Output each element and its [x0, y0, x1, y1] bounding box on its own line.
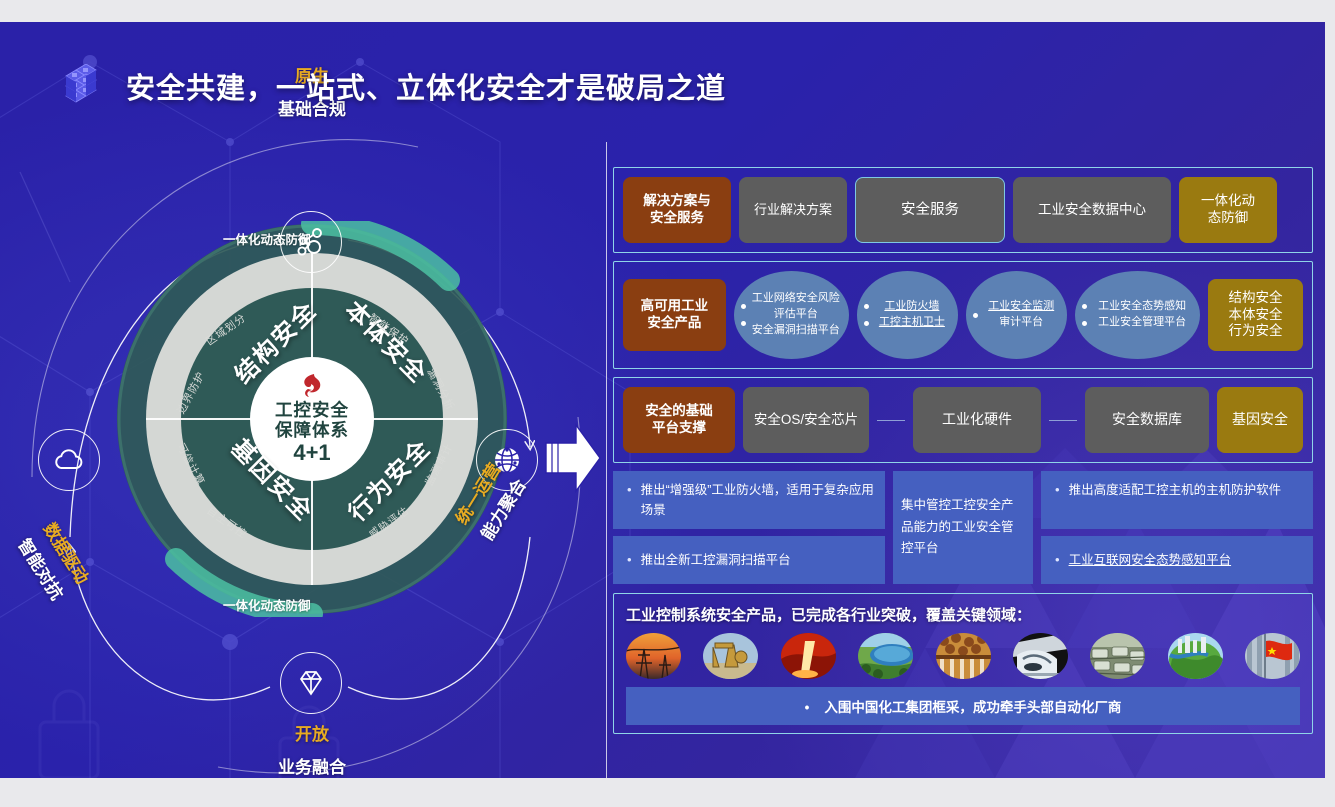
- layer-title-solutions[interactable]: 解决方案与 安全服务: [623, 177, 731, 243]
- layer-group-platform: 安全的基础 平台支撑 安全OS/安全芯片 工业化硬件 安全数据库 基因安全: [613, 377, 1313, 463]
- industry-title: 工业控制系统安全产品，已完成各行业突破，覆盖关键领域：: [626, 604, 1300, 625]
- highlights-left-column: • 推出“增强级”工业防火墙，适用于复杂应用场景 • 推出全新工控漏洞扫描平台: [613, 471, 885, 584]
- capability-panel: 解决方案与 安全服务 行业解决方案 安全服务 工业安全数据中心 一体化动 态防御…: [613, 167, 1313, 778]
- connector-line: [1049, 420, 1077, 421]
- slide-canvas: 安全共建，一站式、立体化安全才是破局之道: [0, 22, 1325, 778]
- highlights-right-column: • 推出高度适配工控主机的主机防护软件 • 工业互联网安全态势感知平台: [1041, 471, 1313, 584]
- bullet-dot: [1082, 321, 1087, 326]
- highlight-item[interactable]: • 推出“增强级”工业防火墙，适用于复杂应用场景: [613, 471, 885, 529]
- ellipse-text: 工业安全态势感知 工业安全管理平台: [1091, 299, 1193, 331]
- ellipse-bullets: [1082, 304, 1087, 326]
- highlight-item[interactable]: • 工业互联网安全态势感知平台: [1041, 536, 1313, 584]
- ellipse-line: 工业安全管理平台: [1091, 315, 1193, 331]
- layer-title-platform[interactable]: 安全的基础 平台支撑: [623, 387, 735, 453]
- bullet-dot: [864, 304, 869, 309]
- product-ellipse-firewall[interactable]: 工业防火墙 工控主机卫士: [857, 271, 958, 359]
- chip-security-dimensions[interactable]: 结构安全 本体安全 行为安全: [1208, 279, 1303, 351]
- bullet-dot: •: [805, 700, 810, 715]
- ellipse-line: 评估平台: [750, 307, 842, 323]
- share-nodes-icon: [294, 225, 328, 259]
- caption-bottom-value: 业务融合: [212, 753, 412, 778]
- ellipse-text: 工业安全监测 审计平台: [982, 299, 1060, 331]
- caption-bottom-key: 开放: [212, 720, 412, 745]
- chip-industrial-hardware[interactable]: 工业化硬件: [913, 387, 1041, 453]
- industry-footer[interactable]: • 入围中国化工集团框采，成功牵手头部自动化厂商: [626, 687, 1300, 725]
- vertical-divider: [606, 142, 607, 778]
- page-title: 安全共建，一站式、立体化安全才是破局之道: [126, 65, 726, 107]
- page-header: 安全共建，一站式、立体化安全才是破局之道: [58, 64, 726, 108]
- layer-group-products: 高可用工业 安全产品 工业网络安全风险 评估平台 安全漏洞扫描平台 工业防火墙 …: [613, 261, 1313, 369]
- automotive-plant-icon: [1090, 633, 1145, 679]
- ellipse-line: 安全漏洞扫描平台: [750, 323, 842, 339]
- cube-blocks-icon: [58, 64, 104, 108]
- bullet-dot: [973, 313, 978, 318]
- chip-security-service[interactable]: 安全服务: [855, 177, 1005, 243]
- product-ellipse-situational-awareness[interactable]: 工业安全态势感知 工业安全管理平台: [1075, 271, 1200, 359]
- ellipse-line: 工业安全态势感知: [1091, 299, 1193, 315]
- center-line-2: 保障体系: [275, 420, 349, 440]
- bullet-dot: •: [623, 480, 632, 500]
- security-framework-diagram: 一体化动态防御 一体化动态防御 结构安全 本体安全 基因安全 行为安全 边界防护…: [18, 117, 606, 778]
- ellipse-line: 审计平台: [982, 315, 1060, 331]
- chip-secure-os-chip[interactable]: 安全OS/安全芯片: [743, 387, 869, 453]
- steel-furnace-icon: [781, 633, 836, 679]
- bullet-dot: [741, 304, 746, 309]
- highlight-center-platform[interactable]: 集中管控工控安全产品能力的工业安全管控平台: [893, 471, 1033, 584]
- industry-footer-text: 入围中国化工集团框采，成功牵手头部自动化厂商: [824, 700, 1121, 715]
- smart-city-icon: [1168, 633, 1223, 679]
- oil-pump-icon: [703, 633, 758, 679]
- right-arrow-outline-icon: [542, 417, 604, 499]
- highlight-item[interactable]: • 推出全新工控漏洞扫描平台: [613, 536, 885, 584]
- center-line-3: 4+1: [293, 441, 330, 465]
- chip-genetic-security[interactable]: 基因安全: [1217, 387, 1303, 453]
- highlights-section: • 推出“增强级”工业防火墙，适用于复杂应用场景 • 推出全新工控漏洞扫描平台 …: [613, 471, 1313, 584]
- node-bottom[interactable]: [280, 652, 342, 714]
- chip-industrial-data-center[interactable]: 工业安全数据中心: [1013, 177, 1171, 243]
- ellipse-line: 工控主机卫士: [873, 315, 951, 331]
- rail-train-icon: [1013, 633, 1068, 679]
- product-ellipse-monitor-audit[interactable]: 工业安全监测 审计平台: [966, 271, 1067, 359]
- highlight-item[interactable]: • 推出高度适配工控主机的主机防护软件: [1041, 471, 1313, 529]
- chip-security-database[interactable]: 安全数据库: [1085, 387, 1209, 453]
- ellipse-bullets: [864, 304, 869, 326]
- bullet-dot: •: [1051, 550, 1060, 570]
- power-grid-icon: [626, 633, 681, 679]
- bullet-dot: •: [1051, 480, 1060, 500]
- highlight-text: 工业互联网安全态势感知平台: [1069, 550, 1232, 570]
- node-left[interactable]: [38, 429, 100, 491]
- bullet-dot: •: [623, 550, 632, 570]
- layer-group-solutions: 解决方案与 安全服务 行业解决方案 安全服务 工业安全数据中心 一体化动 态防御: [613, 167, 1313, 253]
- ellipse-text: 工业防火墙 工控主机卫士: [873, 299, 951, 331]
- bullet-dot: [741, 321, 746, 326]
- water-plant-icon: [858, 633, 913, 679]
- layer-title-products[interactable]: 高可用工业 安全产品: [623, 279, 726, 351]
- diagram-center: 工控安全 保障体系 4+1: [250, 357, 374, 481]
- chemical-plant-icon: [936, 633, 991, 679]
- chip-industry-solution[interactable]: 行业解决方案: [739, 177, 847, 243]
- product-ellipse-risk-assessment[interactable]: 工业网络安全风险 评估平台 安全漏洞扫描平台: [734, 271, 849, 359]
- ring-bottom-label: 一体化动态防御: [223, 595, 311, 614]
- chip-integrated-defense[interactable]: 一体化动 态防御: [1179, 177, 1277, 243]
- ellipse-line: 工业安全监测: [982, 299, 1060, 315]
- highlight-text: 推出全新工控漏洞扫描平台: [641, 550, 791, 570]
- ellipse-text: 工业网络安全风险 评估平台 安全漏洞扫描平台: [750, 291, 842, 339]
- ellipse-line: 工业防火墙: [873, 299, 951, 315]
- flame-logo-icon: [298, 373, 326, 399]
- diamond-icon: [295, 668, 327, 698]
- industry-icon-row: [626, 633, 1300, 679]
- industry-coverage-section: 工业控制系统安全产品，已完成各行业突破，覆盖关键领域：: [613, 593, 1313, 734]
- cloud-icon: [52, 447, 86, 473]
- government-flag-icon: [1245, 633, 1300, 679]
- caption-bottom: 开放 业务融合: [212, 720, 412, 778]
- ellipse-bullets: [973, 313, 978, 318]
- ellipse-line: 工业网络安全风险: [750, 291, 842, 307]
- connector-line: [877, 420, 905, 421]
- highlight-text: 推出高度适配工控主机的主机防护软件: [1069, 480, 1282, 500]
- ellipse-bullets: [741, 304, 746, 326]
- center-line-1: 工控安全: [275, 400, 349, 420]
- node-top[interactable]: [280, 211, 342, 273]
- bullet-dot: [1082, 304, 1087, 309]
- highlight-text: 推出“增强级”工业防火墙，适用于复杂应用场景: [641, 480, 875, 520]
- bullet-dot: [864, 321, 869, 326]
